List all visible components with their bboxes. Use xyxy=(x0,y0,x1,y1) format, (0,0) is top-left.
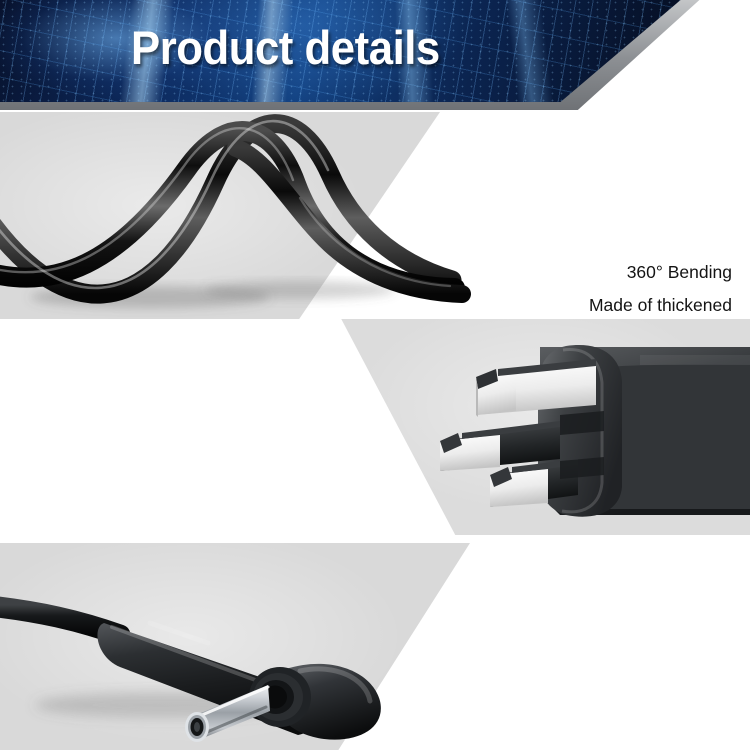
panel-cable-bending: 360° Bending Made of thickened upgraded … xyxy=(0,112,750,319)
panel-3-sheen xyxy=(0,543,470,750)
product-details-infographic: Product details xyxy=(0,0,750,750)
page-title: Product details xyxy=(131,20,440,75)
panel-dc-connector: Copper material Nickel plating process S… xyxy=(0,543,750,750)
panel-1-line-2: Made of thickened xyxy=(550,289,732,322)
panel-2-sheen xyxy=(0,319,750,535)
panel-1-sheen xyxy=(0,112,440,319)
panel-1-line-1: 360° Bending xyxy=(550,256,732,289)
panel-three-pin-plug: 3-pin plug Safer, stronger, wear-resista… xyxy=(0,319,750,535)
header-banner: Product details xyxy=(0,0,750,112)
